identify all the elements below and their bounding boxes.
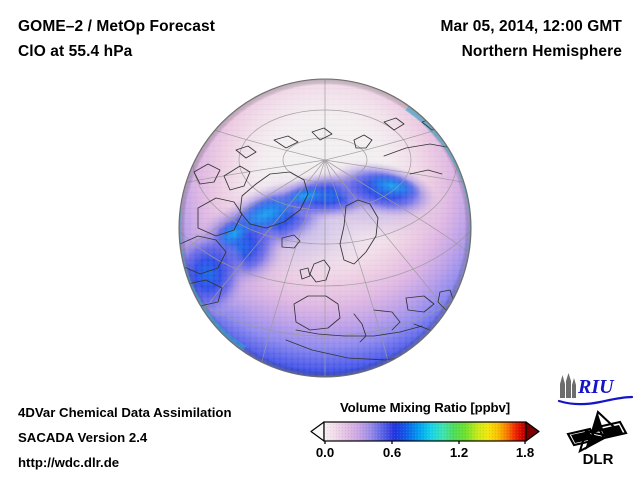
dlr-wordmark: DLR — [583, 451, 614, 468]
riu-wordmark: RIU — [577, 376, 615, 398]
dlr-logo: DLR — [562, 410, 632, 468]
riu-swoosh-icon — [559, 397, 632, 404]
header-right: Mar 05, 2014, 12:00 GMT Northern Hemisph… — [440, 14, 622, 64]
riu-logo-svg: RIU — [556, 372, 634, 406]
orthographic-projection-svg — [178, 78, 472, 378]
colorbar-scale — [310, 420, 540, 444]
riu-logo: RIU — [556, 372, 634, 406]
colorbar-tick-labels: 0.0 0.6 1.2 1.8 — [310, 445, 540, 463]
riu-tower-icon — [560, 373, 576, 398]
colorbar-min-arrow — [311, 422, 324, 441]
version-label: SACADA Version 2.4 — [18, 425, 232, 450]
instrument-title: GOME–2 / MetOp Forecast — [18, 14, 215, 39]
dlr-logo-svg: DLR — [562, 410, 632, 468]
colorbar-tick-0: 0.0 — [316, 445, 334, 460]
figure-canvas: GOME–2 / MetOp Forecast ClO at 55.4 hPa … — [0, 0, 640, 480]
colorbar-max-arrow — [526, 422, 539, 441]
globe-map — [178, 78, 472, 378]
limb-shading — [179, 79, 471, 377]
colorbar-tick-2: 1.2 — [450, 445, 468, 460]
timestamp-label: Mar 05, 2014, 12:00 GMT — [440, 14, 622, 39]
hemisphere-label: Northern Hemisphere — [440, 39, 622, 64]
colorbar: Volume Mixing Ratio [ppbv] — [310, 400, 540, 463]
footer-info: 4DVar Chemical Data Assimilation SACADA … — [18, 400, 232, 475]
website-link[interactable]: http://wdc.dlr.de — [18, 450, 232, 475]
colorbar-tick-1: 0.6 — [383, 445, 401, 460]
species-level-title: ClO at 55.4 hPa — [18, 39, 215, 64]
colorbar-title: Volume Mixing Ratio [ppbv] — [310, 400, 540, 415]
colorbar-dither — [324, 422, 526, 441]
method-label: 4DVar Chemical Data Assimilation — [18, 400, 232, 425]
colorbar-tick-3: 1.8 — [516, 445, 534, 460]
header-left: GOME–2 / MetOp Forecast ClO at 55.4 hPa — [18, 14, 215, 64]
